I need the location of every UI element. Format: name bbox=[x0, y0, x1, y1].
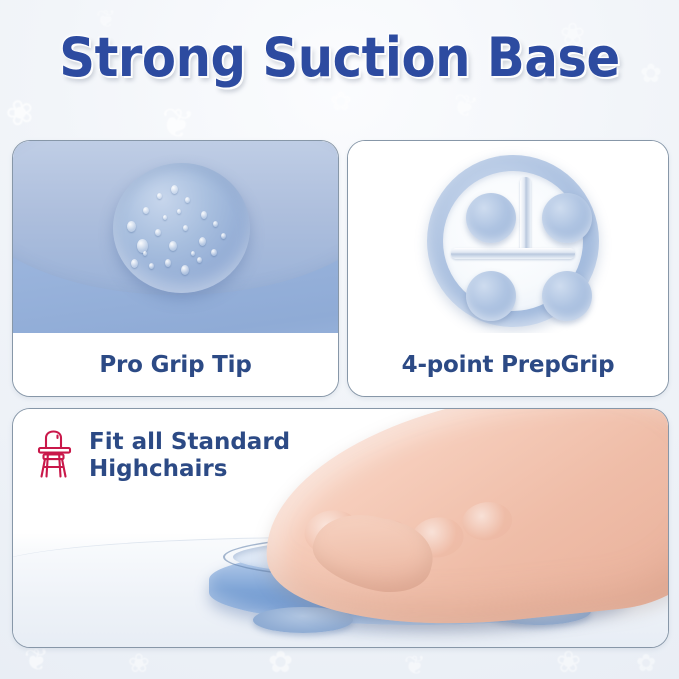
suction-base-inner bbox=[443, 171, 583, 311]
page-title: Strong Suction Base bbox=[27, 26, 652, 89]
suction-pad bbox=[542, 193, 592, 243]
background-flourish-icon: ❀ bbox=[128, 650, 150, 676]
highchair-fit-badge: Fit all Standard Highchairs bbox=[35, 429, 290, 483]
grip-tab bbox=[113, 163, 250, 293]
highchair-fit-text: Fit all Standard Highchairs bbox=[89, 429, 290, 483]
cross-channel-horizontal bbox=[451, 248, 575, 259]
background-flourish-icon: ✿ bbox=[330, 88, 352, 114]
suction-pad bbox=[542, 271, 592, 321]
suction-pad bbox=[466, 193, 516, 243]
suction-base-disc bbox=[427, 155, 599, 327]
feature-card-four-point-prepgrip: 4-point PrepGrip bbox=[347, 140, 669, 397]
feature-card-pro-grip-tip: Pro Grip Tip bbox=[12, 140, 339, 397]
prepgrip-scene bbox=[348, 141, 668, 333]
background-flourish-icon: ✿ bbox=[268, 648, 293, 678]
badge-line-2: Highchairs bbox=[89, 456, 290, 483]
photo-four-point-prepgrip bbox=[348, 141, 668, 333]
background-flourish-icon: ❦ bbox=[24, 646, 49, 676]
badge-line-1: Fit all Standard bbox=[89, 429, 290, 456]
suction-pad bbox=[466, 271, 516, 321]
water-droplets bbox=[113, 163, 250, 293]
background-flourish-icon: ❀ bbox=[1, 92, 39, 133]
caption-four-point-prepgrip: 4-point PrepGrip bbox=[348, 333, 668, 396]
highchair-icon bbox=[35, 429, 77, 479]
caption-pro-grip-tip: Pro Grip Tip bbox=[13, 333, 338, 396]
product-feature-infographic: ❀ ❦ ✿ ❦ ❀ ✿ ❦ ❀ ✿ ❦ ❀ ✿ ❦ Strong Suction… bbox=[0, 0, 679, 679]
background-flourish-icon: ❀ bbox=[556, 648, 581, 678]
background-flourish-icon: ✿ bbox=[636, 652, 656, 676]
photo-pro-grip-tip bbox=[13, 141, 338, 333]
background-flourish-icon: ❦ bbox=[404, 652, 426, 678]
feature-card-highchair-fit: Fit all Standard Highchairs bbox=[12, 408, 669, 648]
background-flourish-icon: ❦ bbox=[449, 89, 481, 124]
cross-channel-vertical bbox=[520, 177, 531, 255]
